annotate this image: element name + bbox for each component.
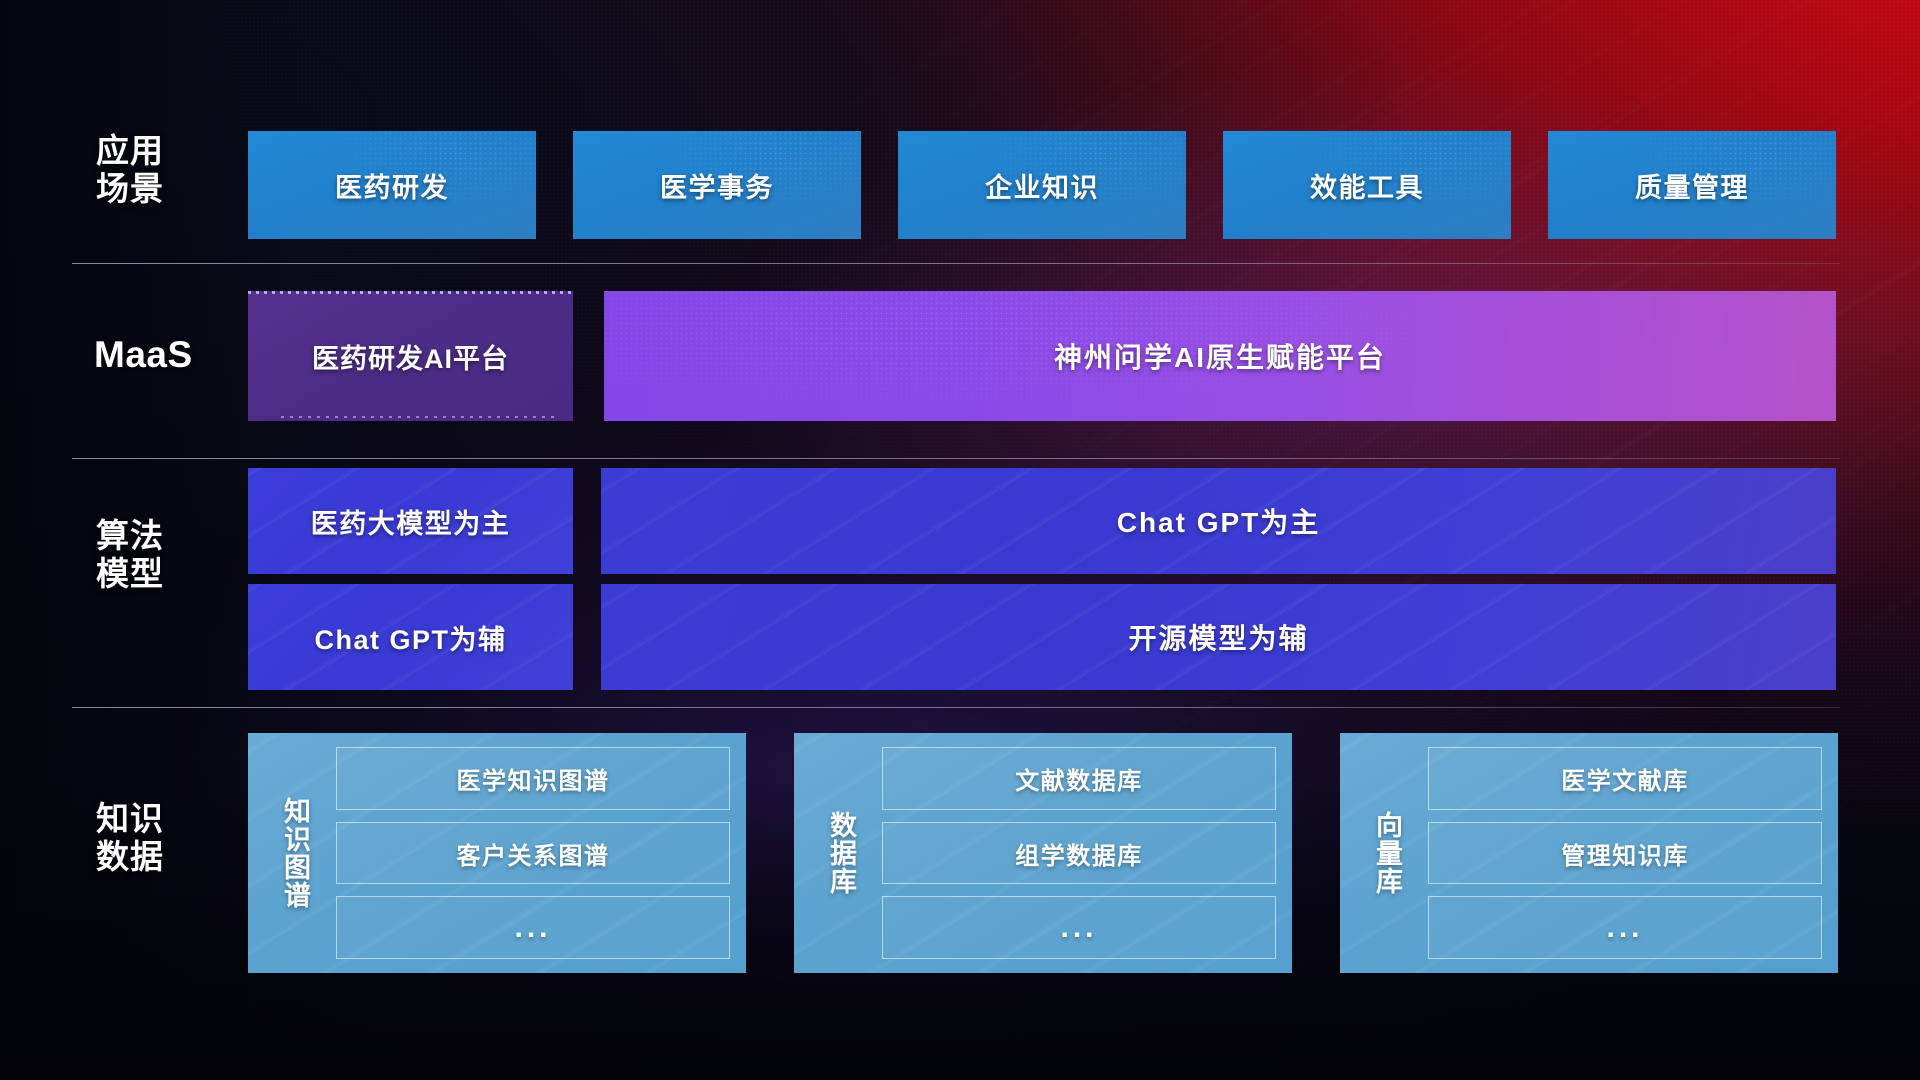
knowledge-group-2-item-1[interactable]: 文献数据库 [882, 747, 1276, 810]
maas-enablement-platform-label: 神州问学AI原生赋能平台 [1054, 336, 1386, 376]
knowledge-group-3-item-2[interactable]: 管理知识库 [1428, 822, 1822, 885]
knowledge-group-3-title: 向量库 [1354, 747, 1418, 959]
algo-right-box-1-label: Chat GPT为主 [1117, 501, 1321, 541]
algo-right-box-2-label: 开源模型为辅 [1128, 617, 1308, 657]
knowledge-group-vector-database[interactable]: 向量库 医学文献库 管理知识库 ... [1340, 733, 1838, 973]
algo-right-box-1[interactable]: Chat GPT为主 [601, 468, 1836, 574]
divider-after-algorithm-model [72, 707, 1840, 708]
app-box-1-label: 医药研发 [335, 166, 449, 205]
knowledge-group-1-items: 医学知识图谱 客户关系图谱 ... [336, 747, 730, 959]
app-box-5[interactable]: 质量管理 [1548, 131, 1836, 239]
knowledge-group-1-item-3[interactable]: ... [336, 896, 730, 959]
knowledge-group-2-items: 文献数据库 组学数据库 ... [882, 747, 1276, 959]
knowledge-group-2-item-3[interactable]: ... [882, 896, 1276, 959]
app-box-4-label: 效能工具 [1310, 166, 1424, 205]
maas-platform-box[interactable]: 医药研发AI平台 [248, 291, 573, 421]
knowledge-group-3-items: 医学文献库 管理知识库 ... [1428, 747, 1822, 959]
knowledge-group-database[interactable]: 数据库 文献数据库 组学数据库 ... [794, 733, 1292, 973]
row-label-knowledge-data: 知识 数据 [96, 800, 256, 877]
knowledge-group-knowledge-graph[interactable]: 知识图谱 医学知识图谱 客户关系图谱 ... [248, 733, 746, 973]
divider-after-maas [72, 458, 1840, 459]
knowledge-group-1-item-2[interactable]: 客户关系图谱 [336, 822, 730, 885]
app-box-2[interactable]: 医学事务 [573, 131, 861, 239]
row-label-application-scenario: 应用 场景 [96, 132, 246, 209]
knowledge-group-1-item-1[interactable]: 医学知识图谱 [336, 747, 730, 810]
algo-right-box-2[interactable]: 开源模型为辅 [601, 584, 1836, 690]
maas-platform-label: 医药研发AI平台 [312, 337, 509, 376]
knowledge-group-2-title: 数据库 [808, 747, 872, 959]
app-box-1[interactable]: 医药研发 [248, 131, 536, 239]
architecture-diagram: 应用 场景 医药研发 医学事务 企业知识 效能工具 质量管理 MaaS 医药研发… [0, 0, 1920, 1080]
knowledge-group-2-item-2[interactable]: 组学数据库 [882, 822, 1276, 885]
knowledge-group-1-title: 知识图谱 [262, 747, 326, 959]
app-box-2-label: 医学事务 [660, 166, 774, 205]
app-box-3[interactable]: 企业知识 [898, 131, 1186, 239]
app-box-3-label: 企业知识 [985, 166, 1099, 205]
maas-enablement-platform-box[interactable]: 神州问学AI原生赋能平台 [604, 291, 1836, 421]
algo-left-box-2-label: Chat GPT为辅 [314, 618, 506, 657]
algo-left-box-1-label: 医药大模型为主 [311, 502, 511, 541]
knowledge-group-3-item-1[interactable]: 医学文献库 [1428, 747, 1822, 810]
row-label-algorithm-model: 算法 模型 [96, 517, 256, 594]
app-box-5-label: 质量管理 [1635, 166, 1749, 205]
divider-after-application-scenario [72, 263, 1840, 264]
app-box-4[interactable]: 效能工具 [1223, 131, 1511, 239]
algo-left-box-1[interactable]: 医药大模型为主 [248, 468, 573, 574]
algo-left-box-2[interactable]: Chat GPT为辅 [248, 584, 573, 690]
knowledge-group-3-item-3[interactable]: ... [1428, 896, 1822, 959]
